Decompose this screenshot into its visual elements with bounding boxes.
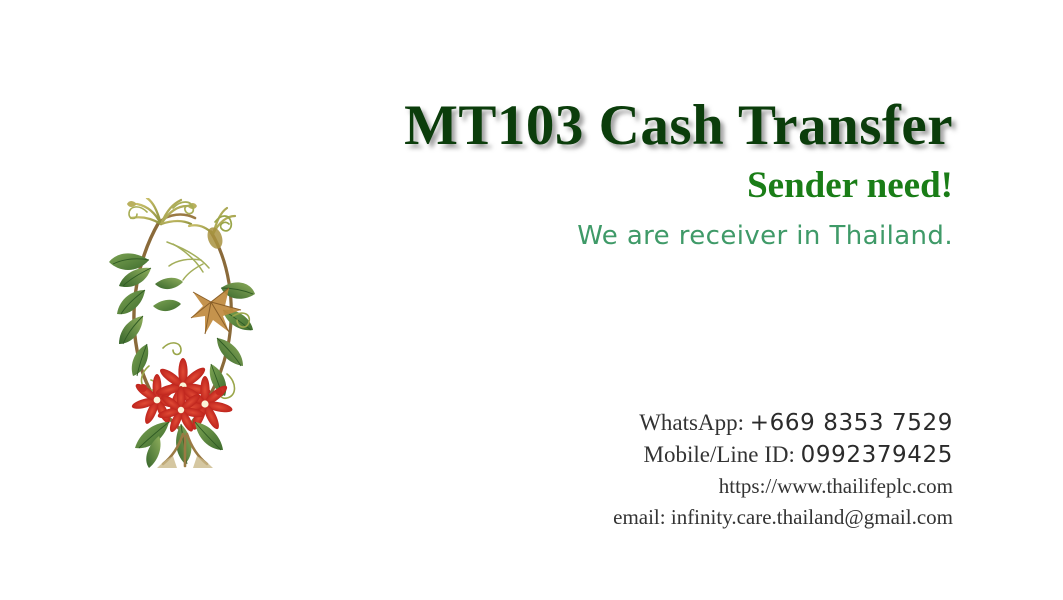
whatsapp-line: WhatsApp: +669 8353 7529 bbox=[340, 407, 953, 439]
email-line: email: infinity.care.thailand@gmail.com bbox=[340, 502, 953, 533]
business-card-page: MT103 Cash Transfer Sender need! We are … bbox=[0, 0, 1063, 600]
whatsapp-number[interactable]: +669 8353 7529 bbox=[750, 410, 953, 436]
contact-block: WhatsApp: +669 8353 7529 Mobile/Line ID:… bbox=[340, 407, 953, 533]
email-address[interactable]: infinity.care.thailand@gmail.com bbox=[671, 505, 953, 529]
mobile-line-id-line: Mobile/Line ID: 0992379425 bbox=[340, 439, 953, 471]
website-line: https://www.thailifeplc.com bbox=[340, 471, 953, 502]
page-title: MT103 Cash Transfer bbox=[200, 96, 953, 155]
tagline: We are receiver in Thailand. bbox=[200, 220, 953, 254]
email-label: email: bbox=[613, 505, 665, 529]
mobile-line-id-label: Mobile/Line ID: bbox=[644, 442, 795, 467]
whatsapp-label: WhatsApp: bbox=[639, 410, 744, 435]
mobile-line-id-number[interactable]: 0992379425 bbox=[801, 442, 953, 468]
headline-block: MT103 Cash Transfer Sender need! We are … bbox=[200, 96, 953, 253]
website-link[interactable]: https://www.thailifeplc.com bbox=[719, 474, 953, 498]
subtitle: Sender need! bbox=[200, 163, 953, 209]
